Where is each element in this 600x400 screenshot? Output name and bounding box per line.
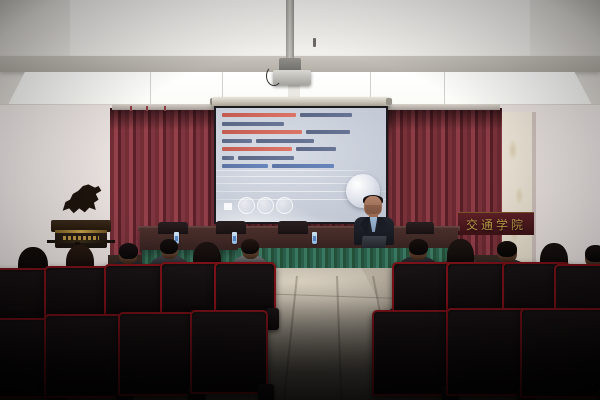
slide-text-segment xyxy=(222,113,296,117)
pedestal-trim xyxy=(55,230,107,233)
stage-chair xyxy=(216,221,246,234)
projector-pole xyxy=(286,0,294,60)
slide-circle-icon xyxy=(238,197,255,214)
slide-text-line xyxy=(222,113,380,117)
person-hair xyxy=(497,241,517,257)
slide-text-segment xyxy=(300,113,352,117)
stanchion-rail xyxy=(47,240,115,243)
horse-figure xyxy=(59,182,105,222)
person-hair xyxy=(119,243,138,259)
slide-text-line xyxy=(222,147,380,151)
seat-back-cushion xyxy=(48,318,122,394)
venue-sign-text: 交通学院 xyxy=(466,216,526,233)
wall-panel-frame-right xyxy=(532,112,536,264)
slide-circle-icon xyxy=(276,197,293,214)
slide-text-segment xyxy=(222,139,252,143)
screen-housing-cap xyxy=(386,98,392,105)
laptop xyxy=(361,236,386,248)
slide-square-icon xyxy=(224,203,232,210)
presenter-face-shadow xyxy=(365,205,381,214)
ceiling-seam xyxy=(444,72,445,105)
slide-circle-icon xyxy=(257,197,274,214)
slide-text-block xyxy=(222,113,380,173)
ceiling-sensor-icon xyxy=(313,38,316,47)
slide-text-segment xyxy=(296,147,336,151)
ceiling-upper-panel xyxy=(18,0,582,56)
stage-chair xyxy=(158,222,188,234)
person-hair xyxy=(409,239,428,255)
slide-text-line xyxy=(222,122,380,126)
curtain-hook xyxy=(146,106,148,111)
slide-text-line xyxy=(222,156,380,160)
auditorium-seat[interactable] xyxy=(44,314,126,398)
venue-sign: 交通学院 xyxy=(458,212,534,235)
slide-text-line xyxy=(222,139,380,143)
curtain-hook xyxy=(130,106,132,111)
slide-text-line xyxy=(222,164,380,168)
person-hair xyxy=(160,239,178,254)
slide-text-segment xyxy=(222,164,268,168)
seat-back-cushion xyxy=(194,314,264,390)
seat-back-cushion xyxy=(108,268,166,318)
person-hair xyxy=(241,239,259,254)
ceiling-seam xyxy=(150,72,151,105)
auditorium-seat[interactable] xyxy=(446,308,528,396)
person-hair xyxy=(585,245,600,262)
seat-back-cushion xyxy=(450,312,524,392)
screen-roller-housing xyxy=(212,97,390,106)
slide-text-segment xyxy=(256,139,314,143)
projector-cable xyxy=(266,66,282,86)
slide-text-segment xyxy=(222,122,284,126)
slide-text-segment xyxy=(222,130,302,134)
auditorium-seat[interactable] xyxy=(118,312,198,396)
slide-text-segment xyxy=(238,156,294,160)
slide-text-line xyxy=(222,130,380,134)
seat-armrest xyxy=(258,384,274,400)
auditorium-seat[interactable] xyxy=(372,310,452,396)
lecture-hall-photo: 交通学院 xyxy=(0,0,600,400)
slide-text-segment xyxy=(222,147,292,151)
slide-text-segment xyxy=(306,130,350,134)
water-bottle xyxy=(312,232,317,244)
stage-chair xyxy=(406,222,434,234)
auditorium-seat[interactable] xyxy=(520,308,600,398)
seat-back-cushion xyxy=(376,314,448,392)
auditorium-seat[interactable] xyxy=(190,310,268,394)
curtain-hook xyxy=(164,106,166,111)
seat-back-cushion xyxy=(218,266,272,314)
stage-chair xyxy=(278,221,308,234)
seat-back-cushion xyxy=(524,312,600,394)
slide-text-segment xyxy=(272,164,334,168)
seat-back-cushion xyxy=(122,316,194,392)
seat-back-cushion xyxy=(396,266,452,316)
slide-text-segment xyxy=(222,156,234,160)
